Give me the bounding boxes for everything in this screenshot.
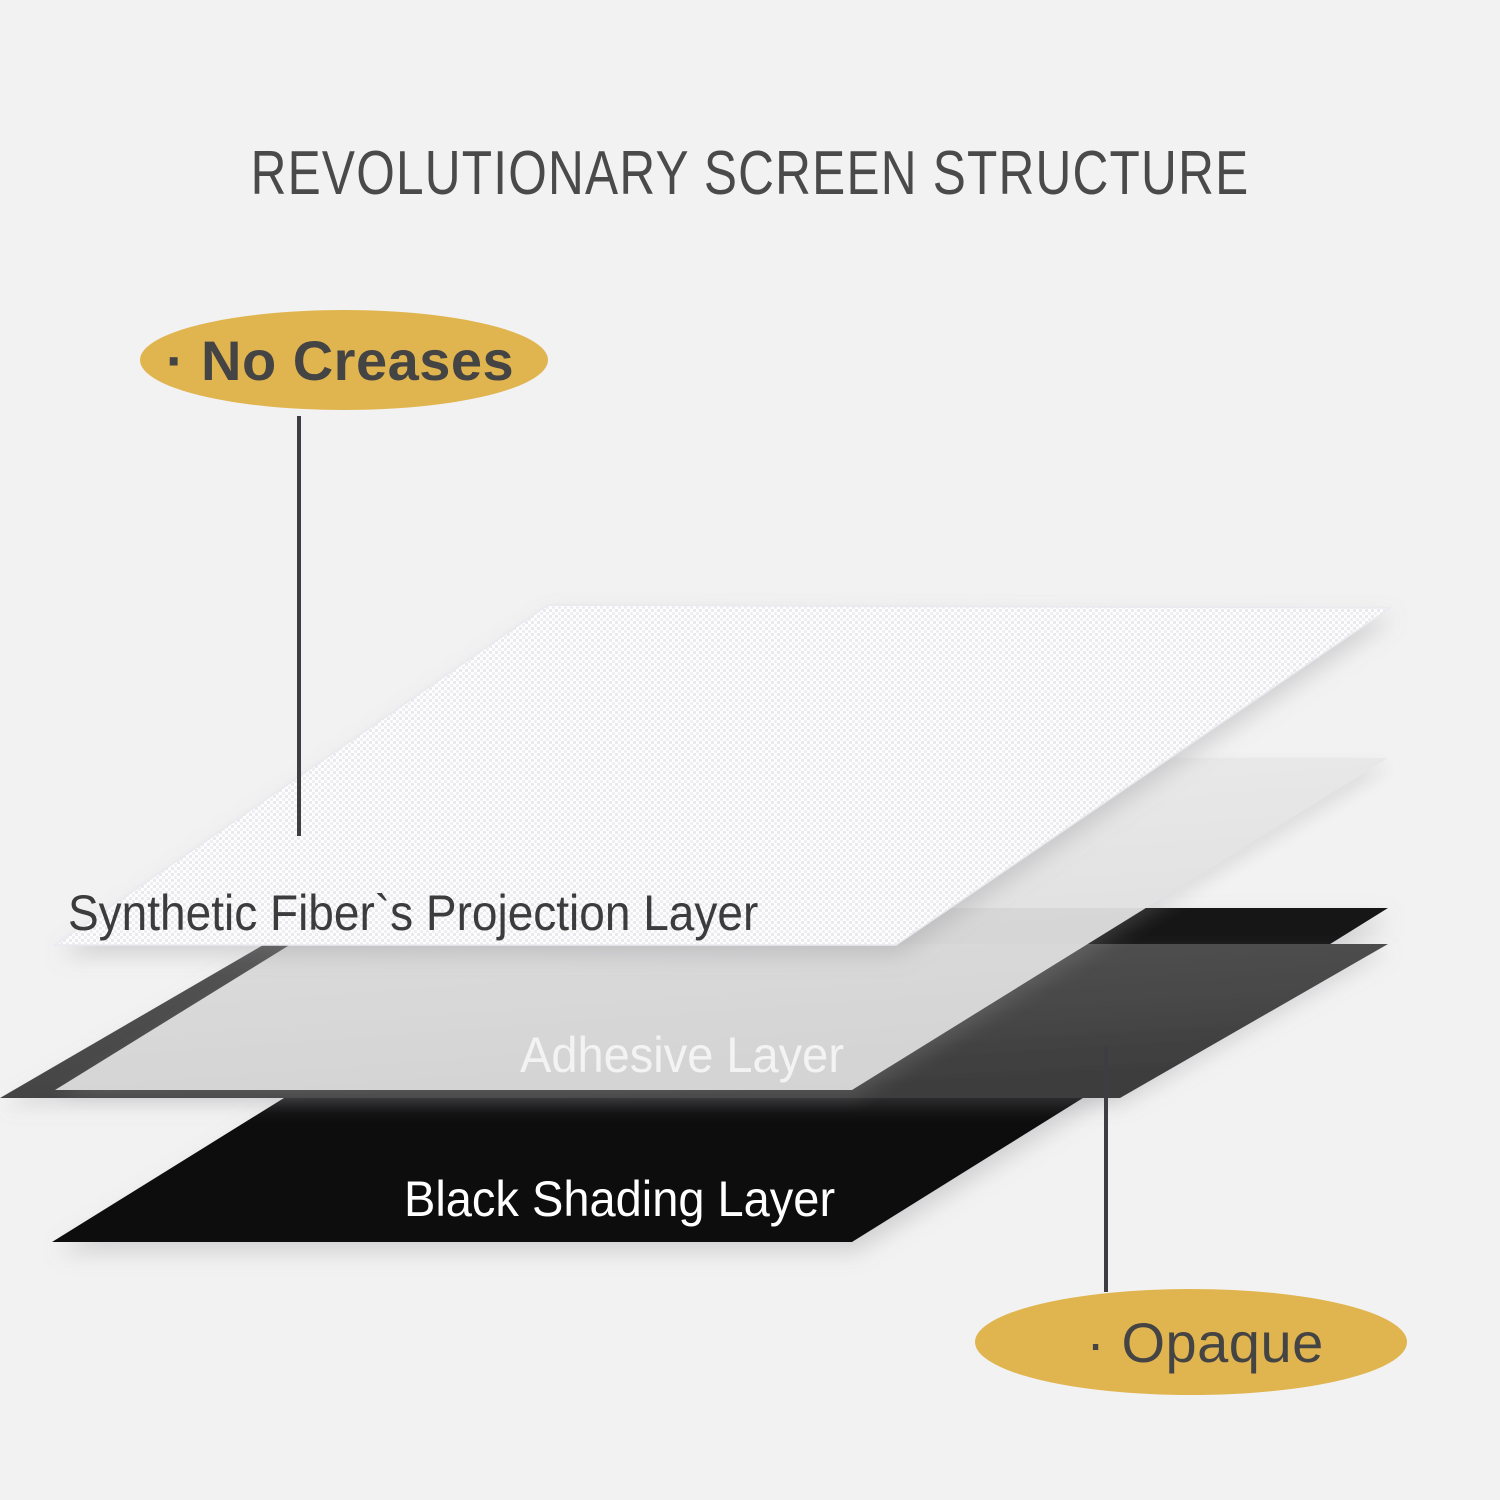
layer-label-black-shading: Black Shading Layer xyxy=(404,1170,835,1228)
layer-label-projection: Synthetic Fiber`s Projection Layer xyxy=(68,884,758,942)
leader-line-no-creases xyxy=(297,416,301,836)
callout-label-opaque: · Opaque xyxy=(1086,1310,1324,1375)
leader-line-opaque xyxy=(1104,1046,1108,1292)
callout-label-no-creases: · No Creases xyxy=(166,328,514,393)
layer-stack-diagram xyxy=(0,0,1500,1500)
layer-label-adhesive: Adhesive Layer xyxy=(520,1026,844,1084)
callout-badge-opaque: · Opaque xyxy=(975,1289,1407,1395)
callout-badge-no-creases: · No Creases xyxy=(140,310,548,410)
screen-structure-infographic: REVOLUTIONARY SCREEN STRUCTURE xyxy=(0,0,1500,1500)
layer-stack-svg xyxy=(0,0,1500,1500)
